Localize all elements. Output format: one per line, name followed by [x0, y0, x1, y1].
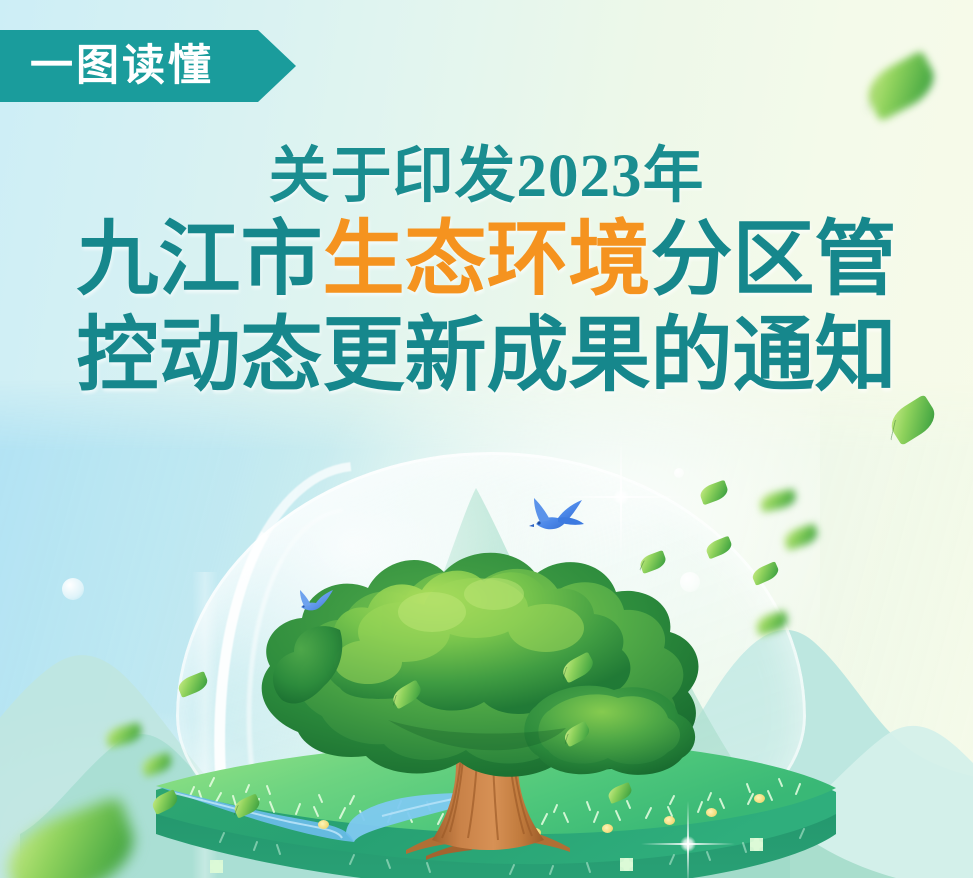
title-line-3: 控动态更新成果的通知	[0, 315, 973, 397]
badge-label: 一图读懂	[30, 45, 214, 88]
title-line-2: 九江市生态环境分区管	[0, 219, 973, 301]
tree-canopy	[236, 520, 756, 820]
title-line-2-highlight: 生态环境	[322, 214, 650, 305]
infographic-canvas: 一图读懂 关于印发2023年 九江市生态环境分区管 控动态更新成果的通知	[0, 0, 973, 878]
title-line-1: 关于印发2023年	[0, 146, 973, 207]
clover	[750, 838, 763, 851]
bubble-highlight	[62, 578, 84, 600]
flower	[602, 824, 613, 833]
bird-right-icon	[528, 496, 588, 545]
clover	[210, 860, 223, 873]
title-line-2-prefix: 九江市	[76, 214, 322, 305]
page-title: 关于印发2023年 九江市生态环境分区管 控动态更新成果的通知	[0, 146, 973, 397]
title-line-2-suffix: 分区管	[651, 214, 897, 305]
flower	[318, 820, 329, 829]
bubble-highlight	[674, 468, 684, 478]
read-in-one-picture-badge[interactable]: 一图读懂	[0, 30, 296, 102]
bubble-highlight	[680, 572, 700, 592]
clover	[620, 858, 633, 871]
bird-left-icon	[296, 588, 336, 623]
